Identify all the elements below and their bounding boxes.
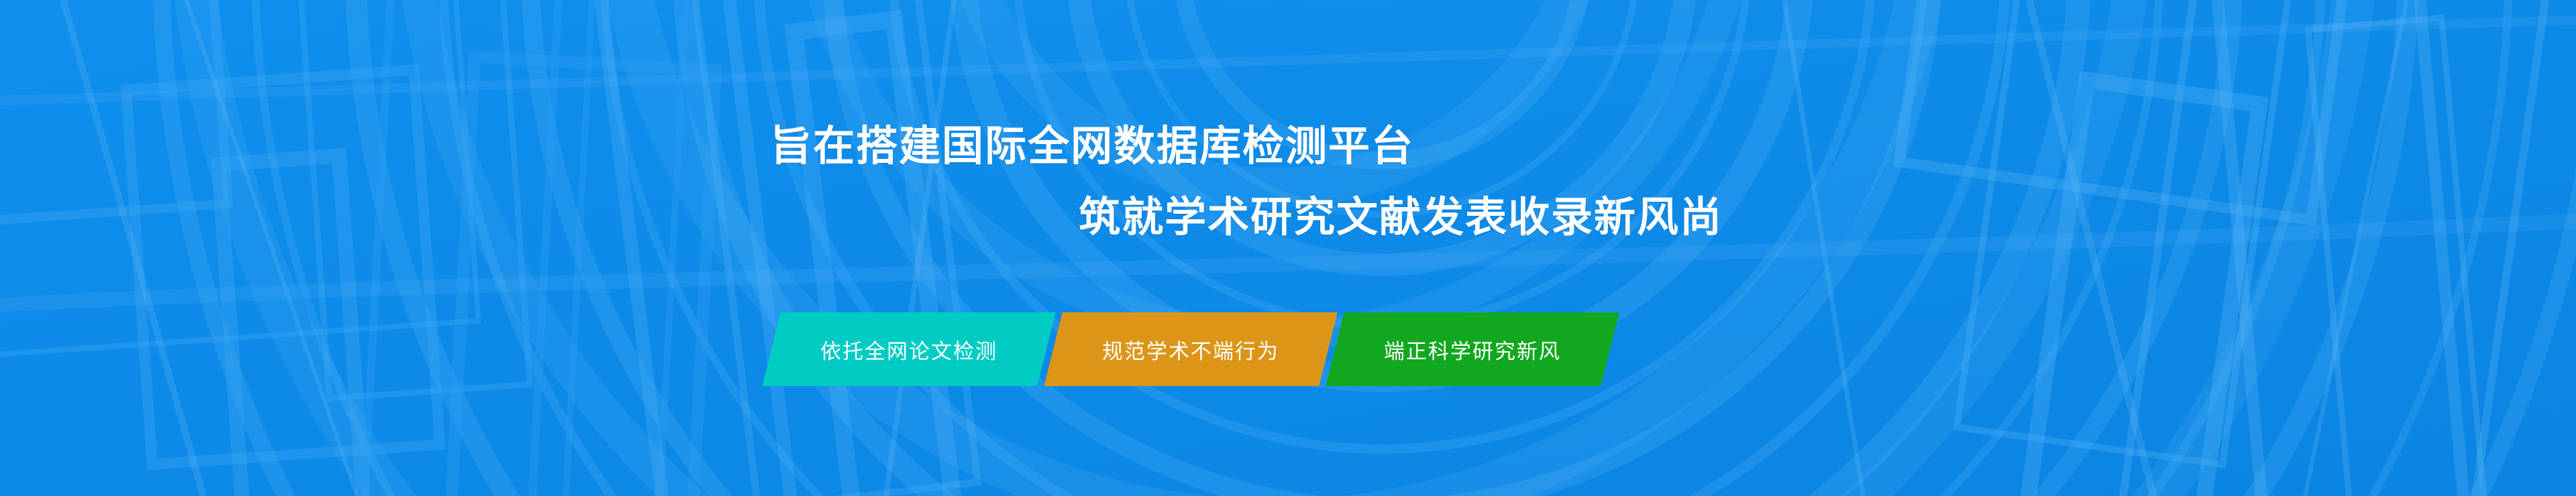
feature-tab-quanwang-lunwen-jiance[interactable]: 依托全网论文检测 [762, 312, 1055, 386]
feature-tab-label: 端正科学研究新风 [1384, 334, 1561, 365]
headline-group: 旨在搭建国际全网数据库检测平台 筑就学术研究文献发表收录新风尚 [0, 0, 2576, 496]
headline-line-2: 筑就学术研究文献发表收录新风尚 [1079, 193, 1723, 241]
feature-tab-duanzheng-kexue-yanjiu[interactable]: 端正科学研究新风 [1326, 312, 1619, 386]
feature-tab-guifan-xueshu-buduan[interactable]: 规范学术不端行为 [1044, 312, 1337, 386]
feature-tab-label: 规范学术不端行为 [1102, 334, 1279, 365]
feature-tab-strip: 依托全网论文检测 规范学术不端行为 端正科学研究新风 [771, 312, 1610, 386]
feature-tab-label: 依托全网论文检测 [820, 334, 998, 365]
headline-line-1: 旨在搭建国际全网数据库检测平台 [770, 122, 1414, 170]
promo-banner: 旨在搭建国际全网数据库检测平台 筑就学术研究文献发表收录新风尚 依托全网论文检测… [0, 0, 2576, 496]
